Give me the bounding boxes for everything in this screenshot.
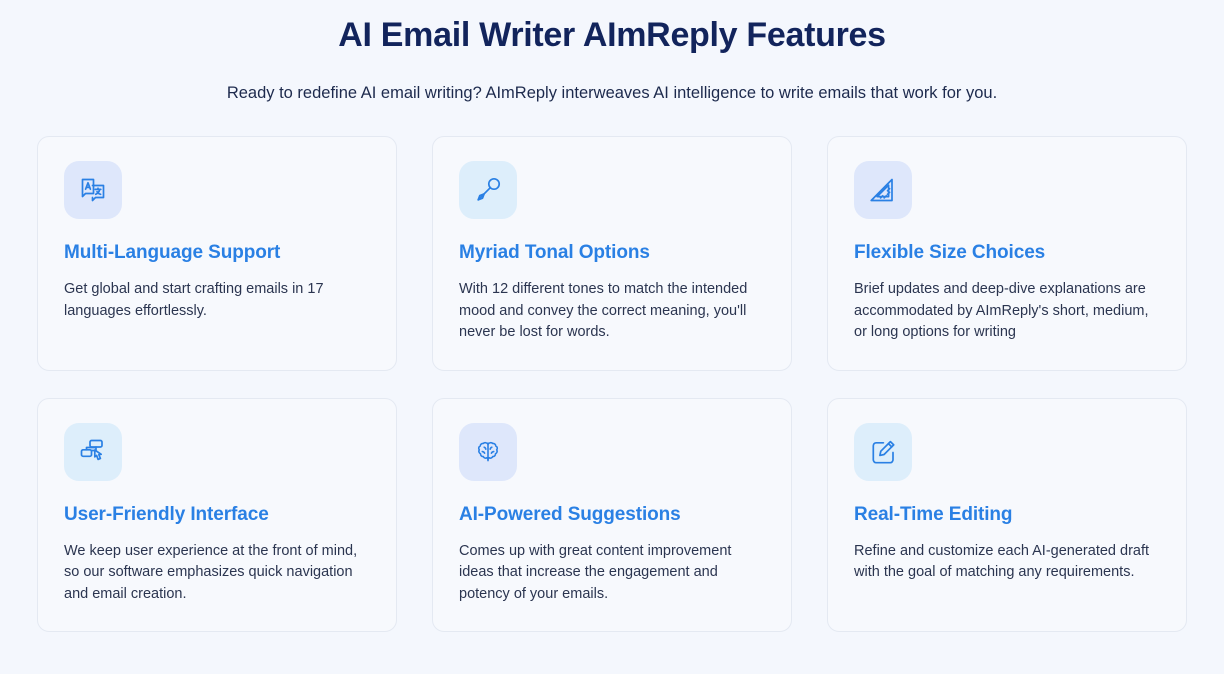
edit-pencil-icon [867,436,899,468]
feature-card-title: Multi-Language Support [64,241,370,265]
features-page: AI Email Writer AImReply Features Ready … [0,0,1224,674]
page-header: AI Email Writer AImReply Features Ready … [0,0,1224,105]
feature-icon-tile [854,161,912,219]
feature-card-real-time-editing[interactable]: Real-Time Editing Refine and customize e… [827,398,1187,633]
brain-icon [472,436,504,468]
page-subtitle: Ready to redefine AI email writing? AImR… [0,81,1224,105]
feature-card-title: Myriad Tonal Options [459,241,765,265]
page-title: AI Email Writer AImReply Features [0,14,1224,56]
features-grid: Multi-Language Support Get global and st… [37,136,1187,632]
feature-card-description: With 12 different tones to match the int… [459,279,759,344]
microphone-icon [472,174,504,206]
feature-card-multi-language-support[interactable]: Multi-Language Support Get global and st… [37,136,397,371]
translate-icon [77,174,109,206]
feature-card-description: We keep user experience at the front of … [64,541,364,606]
feature-card-title: User-Friendly Interface [64,503,370,527]
feature-card-ai-powered-suggestions[interactable]: AI-Powered Suggestions Comes up with gre… [432,398,792,633]
feature-card-description: Refine and customize each AI-generated d… [854,541,1154,584]
feature-card-user-friendly-interface[interactable]: User-Friendly Interface We keep user exp… [37,398,397,633]
feature-card-description: Brief updates and deep-dive explanations… [854,279,1154,344]
feature-card-description: Comes up with great content improvement … [459,541,759,606]
cursor-interface-icon [77,436,109,468]
feature-icon-tile [459,161,517,219]
feature-card-flexible-size-choices[interactable]: Flexible Size Choices Brief updates and … [827,136,1187,371]
feature-icon-tile [854,423,912,481]
feature-card-title: Real-Time Editing [854,503,1160,527]
set-square-ruler-icon [867,174,899,206]
feature-card-myriad-tonal-options[interactable]: Myriad Tonal Options With 12 different t… [432,136,792,371]
feature-icon-tile [64,423,122,481]
feature-card-description: Get global and start crafting emails in … [64,279,364,322]
feature-card-title: AI-Powered Suggestions [459,503,765,527]
feature-card-title: Flexible Size Choices [854,241,1160,265]
feature-icon-tile [64,161,122,219]
feature-icon-tile [459,423,517,481]
